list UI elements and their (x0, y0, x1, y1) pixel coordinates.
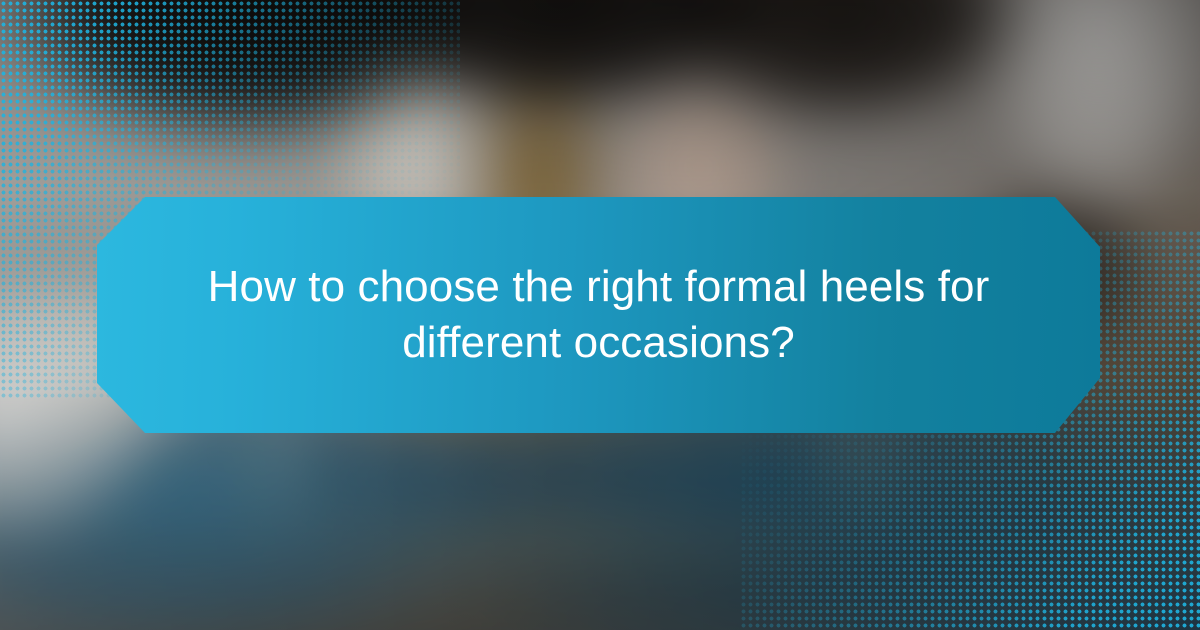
title-banner: How to choose the right formal heels for… (97, 197, 1100, 433)
banner-canvas: How to choose the right formal heels for… (0, 0, 1200, 630)
page-title: How to choose the right formal heels for… (97, 259, 1100, 371)
